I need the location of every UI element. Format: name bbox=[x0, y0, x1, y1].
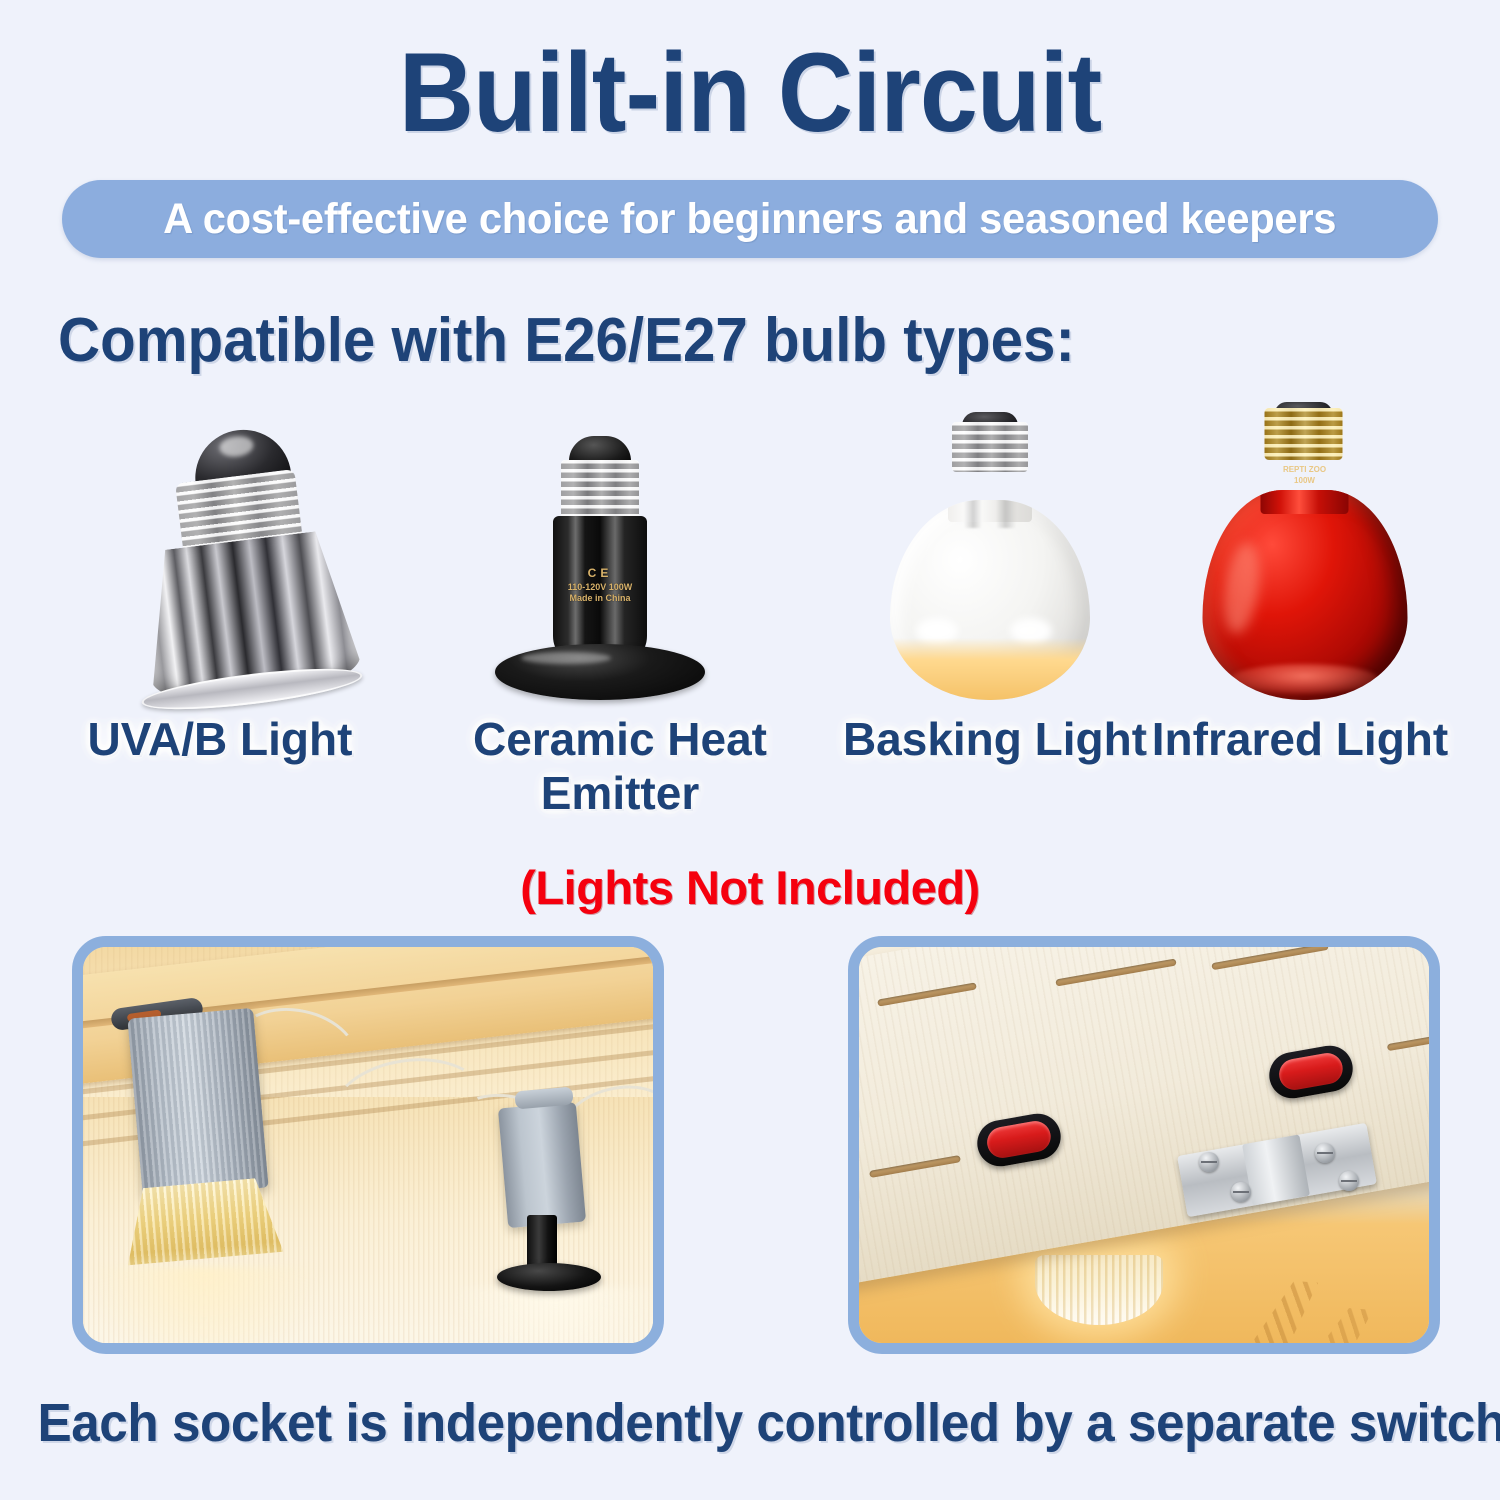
right-photo-hinge-screw-2 bbox=[1315, 1143, 1335, 1163]
basking-warm-glow bbox=[890, 638, 1090, 700]
infrared-threads bbox=[1265, 408, 1343, 460]
bulb-label-basking: Basking Light bbox=[830, 712, 1160, 766]
subtitle-banner-text: A cost-effective choice for beginners an… bbox=[163, 195, 1336, 244]
left-photo-light-beam-2 bbox=[451, 1287, 653, 1343]
lid-top-switches-photo bbox=[848, 936, 1440, 1354]
che-screw-base bbox=[561, 460, 639, 522]
che-marking-voltage: 110-120V 100W bbox=[553, 582, 647, 593]
page-title: Built-in Circuit bbox=[53, 34, 1448, 152]
basking-screw-base bbox=[952, 422, 1028, 472]
right-photo-hinge-screw-1 bbox=[1199, 1152, 1219, 1172]
compatibility-heading: Compatible with E26/E27 bulb types: bbox=[58, 305, 1075, 376]
che-threads bbox=[561, 460, 639, 522]
bulb-row: CE 110-120V 100W Made in China bbox=[0, 400, 1500, 700]
bulb-cell-infrared: REPTI ZOO 100W bbox=[1140, 400, 1470, 700]
bulb-cell-basking bbox=[825, 400, 1155, 700]
infrared-glass-envelope bbox=[1203, 490, 1408, 700]
infrared-brass-screw-base bbox=[1265, 408, 1343, 460]
bulb-label-uva-b: UVA/B Light bbox=[55, 712, 385, 766]
left-photo-ceramic-emitter-disc bbox=[497, 1263, 601, 1291]
infrared-wattage: 100W bbox=[1261, 476, 1349, 486]
che-flared-base bbox=[495, 644, 705, 700]
uva-b-bulb-icon bbox=[135, 410, 365, 700]
infrared-stem bbox=[1261, 490, 1349, 514]
bulb-cell-ceramic-heat-emitter: CE 110-120V 100W Made in China bbox=[435, 400, 765, 700]
infrared-marking: REPTI ZOO 100W bbox=[1261, 465, 1349, 486]
infographic-page: Built-in Circuit A cost-effective choice… bbox=[0, 0, 1500, 1500]
bulb-cell-uva-b bbox=[85, 400, 415, 700]
footer-caption: Each socket is independently controlled … bbox=[38, 1392, 1463, 1454]
left-photo-socket-1-ribs bbox=[127, 1008, 268, 1198]
right-photo-hinge-screw-4 bbox=[1339, 1171, 1359, 1191]
basking-bulb-icon bbox=[890, 425, 1090, 700]
che-marking: CE 110-120V 100W Made in China bbox=[553, 566, 647, 605]
right-photo-hinge-pin bbox=[1242, 1134, 1310, 1205]
bulb-label-infrared: Infrared Light bbox=[1135, 712, 1465, 766]
basking-filament bbox=[964, 500, 1016, 528]
bulb-label-ceramic-heat-emitter: Ceramic Heat Emitter bbox=[455, 712, 785, 821]
right-photo-hinge-screw-3 bbox=[1231, 1182, 1251, 1202]
infrared-brand: REPTI ZOO bbox=[1261, 465, 1349, 475]
infrared-bulb-icon: REPTI ZOO 100W bbox=[1203, 415, 1408, 700]
basking-threads bbox=[952, 422, 1028, 472]
left-photo-ceramic-socket-2 bbox=[498, 1102, 586, 1228]
lights-not-included-note: (Lights Not Included) bbox=[0, 860, 1500, 915]
left-photo-inner bbox=[83, 947, 653, 1343]
che-ce-mark: CE bbox=[553, 566, 647, 581]
left-photo-light-beam-1 bbox=[89, 1267, 319, 1343]
subtitle-banner: A cost-effective choice for beginners an… bbox=[62, 180, 1438, 258]
ceramic-heat-emitter-icon: CE 110-120V 100W Made in China bbox=[495, 410, 705, 700]
infrared-bottom-glow bbox=[1231, 664, 1379, 694]
enclosure-interior-sockets-photo bbox=[72, 936, 664, 1354]
infrared-highlight bbox=[1218, 540, 1264, 636]
right-photo-inner bbox=[859, 947, 1429, 1343]
che-marking-origin: Made in China bbox=[553, 593, 647, 604]
basking-glass-envelope bbox=[890, 500, 1090, 700]
